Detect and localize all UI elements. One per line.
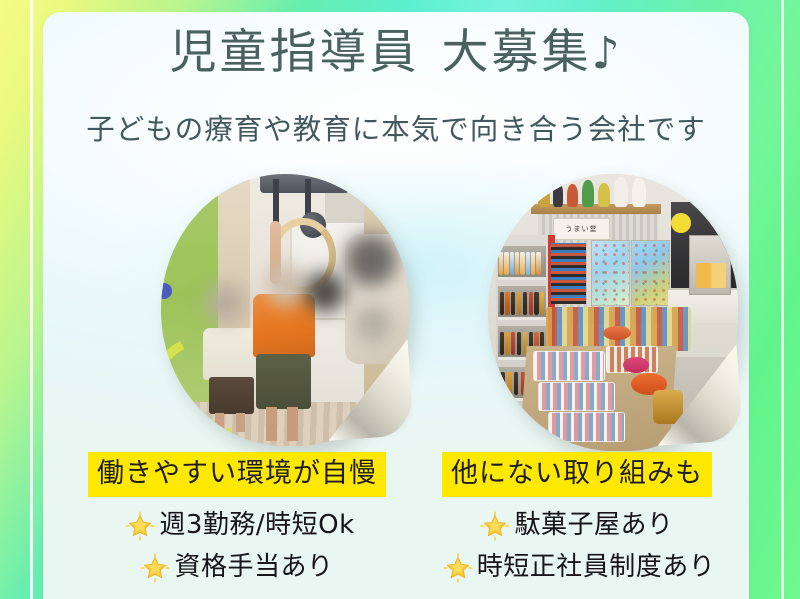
page-title: 児童指導員大募集♪ xyxy=(43,28,749,77)
list-item: 資格手当あり xyxy=(61,548,413,587)
poster-card: 児童指導員大募集♪ 子どもの療育や教育に本気で向き合う会社です xyxy=(43,12,749,599)
star-icon xyxy=(140,553,170,583)
highlight-wrap: 他にない取り組みも xyxy=(405,452,749,497)
bullet-list-unique-initiatives: 駄菓子屋あり xyxy=(405,506,749,587)
photo-dagashi-shop: うまい堂 xyxy=(488,174,738,451)
star-icon xyxy=(125,511,155,541)
highlight-wrap: 働きやすい環境が自慢 xyxy=(61,452,413,497)
music-note-icon: ♪ xyxy=(591,28,622,79)
star-icon xyxy=(443,553,473,583)
frame-inner-line-left xyxy=(30,0,33,599)
shop-sign-text: うまい堂 xyxy=(554,219,609,238)
list-item: 時短正社員制度あり xyxy=(405,548,749,587)
poster-root: 児童指導員大募集♪ 子どもの療育や教育に本気で向き合う会社です xyxy=(0,0,800,599)
bullet-text: 時短正社員制度あり xyxy=(477,548,716,587)
column-work-environment: 働きやすい環境が自慢 xyxy=(61,452,413,590)
highlight-unique-initiatives: 他にない取り組みも xyxy=(442,452,712,497)
bullet-list-work-environment: 週3勤務/時短Ok xyxy=(61,506,413,587)
headline-part-1: 児童指導員 xyxy=(169,25,419,80)
list-item: 週3勤務/時短Ok xyxy=(61,506,413,545)
frame-inner-line-right xyxy=(781,0,784,599)
page-subtitle: 子どもの療育や教育に本気で向き合う会社です xyxy=(43,107,749,148)
list-item: 駄菓子屋あり xyxy=(405,506,749,545)
highlight-work-environment: 働きやすい環境が自慢 xyxy=(88,452,386,497)
bullet-text: 週3勤務/時短Ok xyxy=(159,506,354,545)
bullet-text: 資格手当あり xyxy=(174,548,333,587)
shop-sign: うまい堂 xyxy=(553,218,610,239)
headline-part-2: 大募集 xyxy=(441,25,591,80)
bullet-text: 駄菓子屋あり xyxy=(514,506,673,545)
column-unique-initiatives: 他にない取り組みも xyxy=(405,452,749,590)
photo-therapy-room xyxy=(161,174,409,446)
star-icon xyxy=(480,511,510,541)
